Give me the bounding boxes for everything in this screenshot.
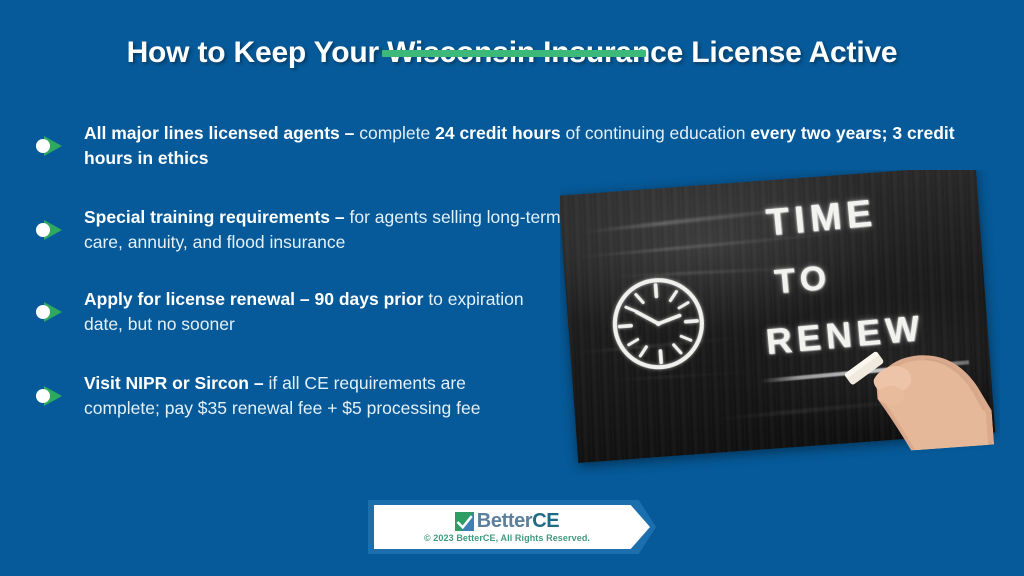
chalk-text-line-2: TO	[773, 259, 833, 303]
chalkboard-photo: TIME TO RENEW	[560, 170, 1000, 475]
list-item-lead: Apply for license renewal – 90 days prio…	[84, 289, 423, 309]
list-item-text: Special training requirements – for agen…	[84, 205, 574, 255]
brand-wordmark: BetterCE	[477, 511, 559, 531]
title-underline-accent	[382, 50, 646, 57]
green-arrow-bullet-icon	[36, 385, 66, 407]
chalk-text-line-1: TIME	[764, 193, 878, 246]
chalkboard-surface: TIME TO RENEW	[560, 170, 995, 463]
green-arrow-bullet-icon	[36, 301, 66, 323]
brand-word-better: Better	[477, 510, 532, 532]
list-item-body-2: of continuing education	[561, 123, 751, 143]
list-item-lead: Special training requirements –	[84, 207, 350, 227]
infographic-canvas: How to Keep Your Wisconsin Insurance Lic…	[0, 0, 1024, 576]
list-item: All major lines licensed agents – comple…	[36, 120, 966, 172]
list-item-text: All major lines licensed agents – comple…	[84, 121, 966, 171]
list-item-lead: All major lines licensed agents –	[84, 123, 359, 143]
footer-logo-banner: BetterCE © 2023 BetterCE, All Rights Res…	[368, 500, 656, 554]
footer-logo-card: BetterCE © 2023 BetterCE, All Rights Res…	[374, 505, 650, 549]
brand-word-ce: CE	[532, 510, 559, 532]
green-arrow-bullet-icon	[36, 219, 66, 241]
checkmark-logo-icon	[455, 512, 474, 531]
list-item-body: complete	[359, 123, 435, 143]
brand-logo: BetterCE	[455, 511, 559, 531]
hand-holding-chalk-icon	[809, 295, 995, 457]
clock-drawing-icon	[602, 268, 713, 379]
green-arrow-bullet-icon	[36, 135, 66, 157]
list-item-lead: Visit NIPR or Sircon –	[84, 373, 268, 393]
list-item-emphasis: 24 credit hours	[435, 123, 560, 143]
list-item-text: Apply for license renewal – 90 days prio…	[84, 287, 554, 337]
list-item-text: Visit NIPR or Sircon – if all CE require…	[84, 371, 534, 421]
copyright-text: © 2023 BetterCE, All Rights Reserved.	[424, 533, 590, 543]
